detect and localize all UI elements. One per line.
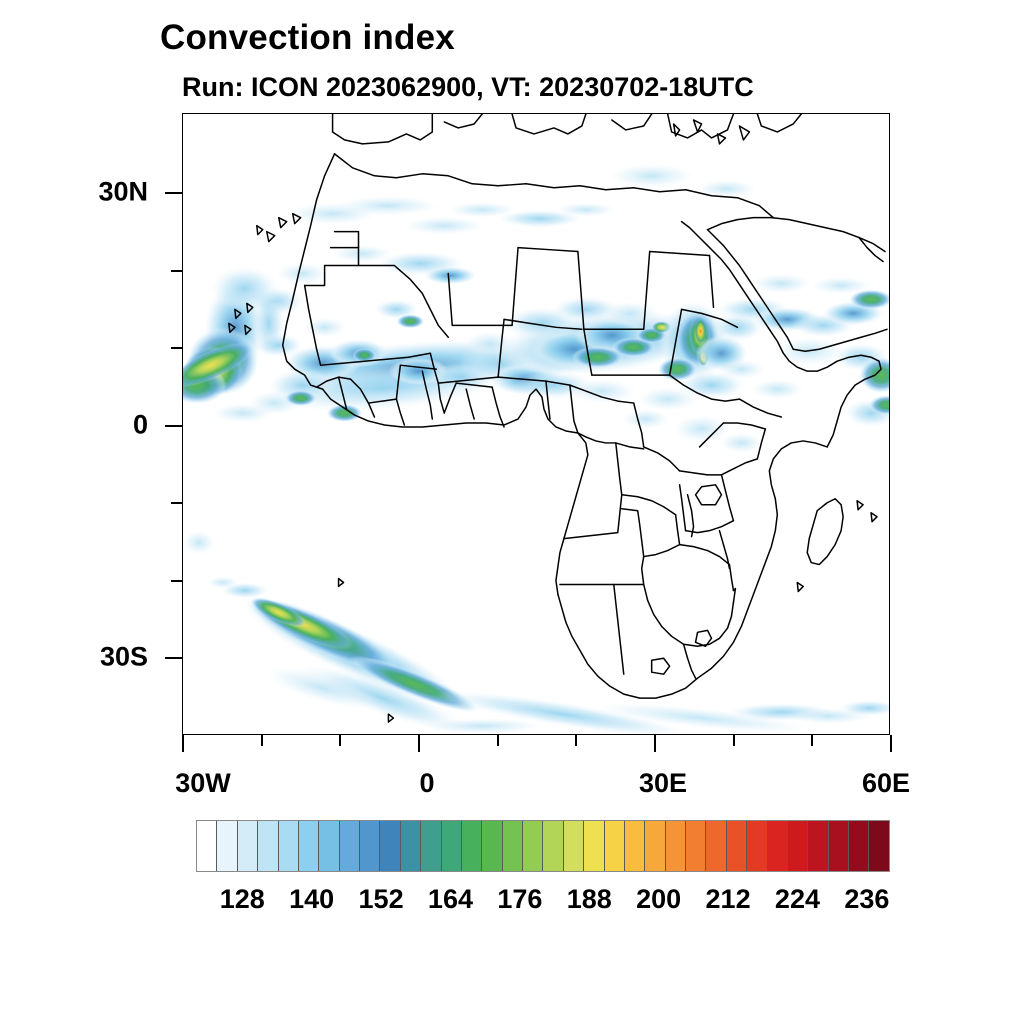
y-axis-label-30s: 30S bbox=[28, 642, 148, 673]
colorbar-cell bbox=[380, 821, 400, 871]
x-tick-10e bbox=[497, 735, 499, 746]
colorbar-cell bbox=[299, 821, 319, 871]
x-axis-label-0: 0 bbox=[419, 768, 434, 799]
colorbar-cell bbox=[869, 821, 888, 871]
y-tick-30n bbox=[165, 192, 182, 194]
colorbar-cell bbox=[421, 821, 441, 871]
colorbar-cell bbox=[584, 821, 604, 871]
colorbar-tick-label: 236 bbox=[844, 884, 889, 915]
map-plot-area bbox=[182, 113, 890, 735]
x-axis-label-30e: 30E bbox=[639, 768, 687, 799]
colorbar-tick-label: 212 bbox=[706, 884, 751, 915]
colorbar-tick-label: 188 bbox=[567, 884, 612, 915]
colorbar-cell bbox=[523, 821, 543, 871]
x-tick-10w bbox=[339, 735, 341, 746]
colorbar-cell bbox=[747, 821, 767, 871]
colorbar-cell bbox=[645, 821, 665, 871]
x-tick-60e bbox=[890, 735, 892, 752]
x-tick-30w bbox=[182, 735, 184, 752]
x-tick-20e bbox=[575, 735, 577, 746]
y-tick-10s bbox=[171, 502, 182, 504]
colorbar-cell bbox=[666, 821, 686, 871]
colorbar-cell bbox=[849, 821, 869, 871]
x-tick-40e bbox=[733, 735, 735, 746]
colorbar-cell bbox=[197, 821, 217, 871]
colorbar-cell bbox=[605, 821, 625, 871]
x-tick-0 bbox=[418, 735, 420, 752]
colorbar-cell bbox=[482, 821, 502, 871]
y-tick-0 bbox=[165, 425, 182, 427]
colorbar-cell bbox=[788, 821, 808, 871]
colorbar-tick-label: 152 bbox=[359, 884, 404, 915]
colorbar-cell bbox=[503, 821, 523, 871]
convection-index-chart: Convection index Run: ICON 2023062900, V… bbox=[0, 0, 1024, 1024]
chart-subtitle: Run: ICON 2023062900, VT: 20230702-18UTC bbox=[182, 72, 754, 103]
colorbar-cell bbox=[808, 821, 828, 871]
colorbar-cell bbox=[360, 821, 380, 871]
colorbar-cell bbox=[829, 821, 849, 871]
x-tick-30e bbox=[654, 735, 656, 752]
y-tick-10n bbox=[171, 347, 182, 349]
y-axis-label-30n: 30N bbox=[28, 177, 148, 208]
colorbar-tick-label: 128 bbox=[220, 884, 265, 915]
colorbar-cell bbox=[279, 821, 299, 871]
colorbar[interactable] bbox=[196, 820, 890, 872]
colorbar-tick-label: 224 bbox=[775, 884, 820, 915]
colorbar-cell bbox=[625, 821, 645, 871]
colorbar-cell bbox=[706, 821, 726, 871]
x-tick-20w bbox=[261, 735, 263, 746]
colorbar-cell bbox=[564, 821, 584, 871]
colorbar-cell bbox=[442, 821, 462, 871]
colorbar-tick-label: 140 bbox=[289, 884, 334, 915]
colorbar-cell bbox=[401, 821, 421, 871]
colorbar-tick-label: 164 bbox=[428, 884, 473, 915]
colorbar-cell bbox=[462, 821, 482, 871]
colorbar-tick-label: 176 bbox=[497, 884, 542, 915]
colorbar-cell bbox=[768, 821, 788, 871]
x-axis-label-60e: 60E bbox=[862, 768, 910, 799]
y-tick-20n bbox=[171, 270, 182, 272]
colorbar-cell bbox=[319, 821, 339, 871]
colorbar-tick-labels: 128140152164176188200212224236 bbox=[196, 884, 890, 918]
colorbar-cell bbox=[238, 821, 258, 871]
page-title: Convection index bbox=[160, 18, 455, 58]
colorbar-tick-label: 200 bbox=[636, 884, 681, 915]
map-canvas bbox=[183, 114, 889, 734]
colorbar-cell bbox=[217, 821, 237, 871]
colorbar-cell bbox=[340, 821, 360, 871]
x-axis-label-30w: 30W bbox=[175, 768, 231, 799]
colorbar-cell bbox=[258, 821, 278, 871]
colorbar-cell bbox=[543, 821, 563, 871]
y-tick-20s bbox=[171, 580, 182, 582]
y-axis-label-0: 0 bbox=[28, 410, 148, 441]
colorbar-cell bbox=[727, 821, 747, 871]
colorbar-cell bbox=[686, 821, 706, 871]
x-tick-50e bbox=[811, 735, 813, 746]
y-tick-30s bbox=[165, 657, 182, 659]
